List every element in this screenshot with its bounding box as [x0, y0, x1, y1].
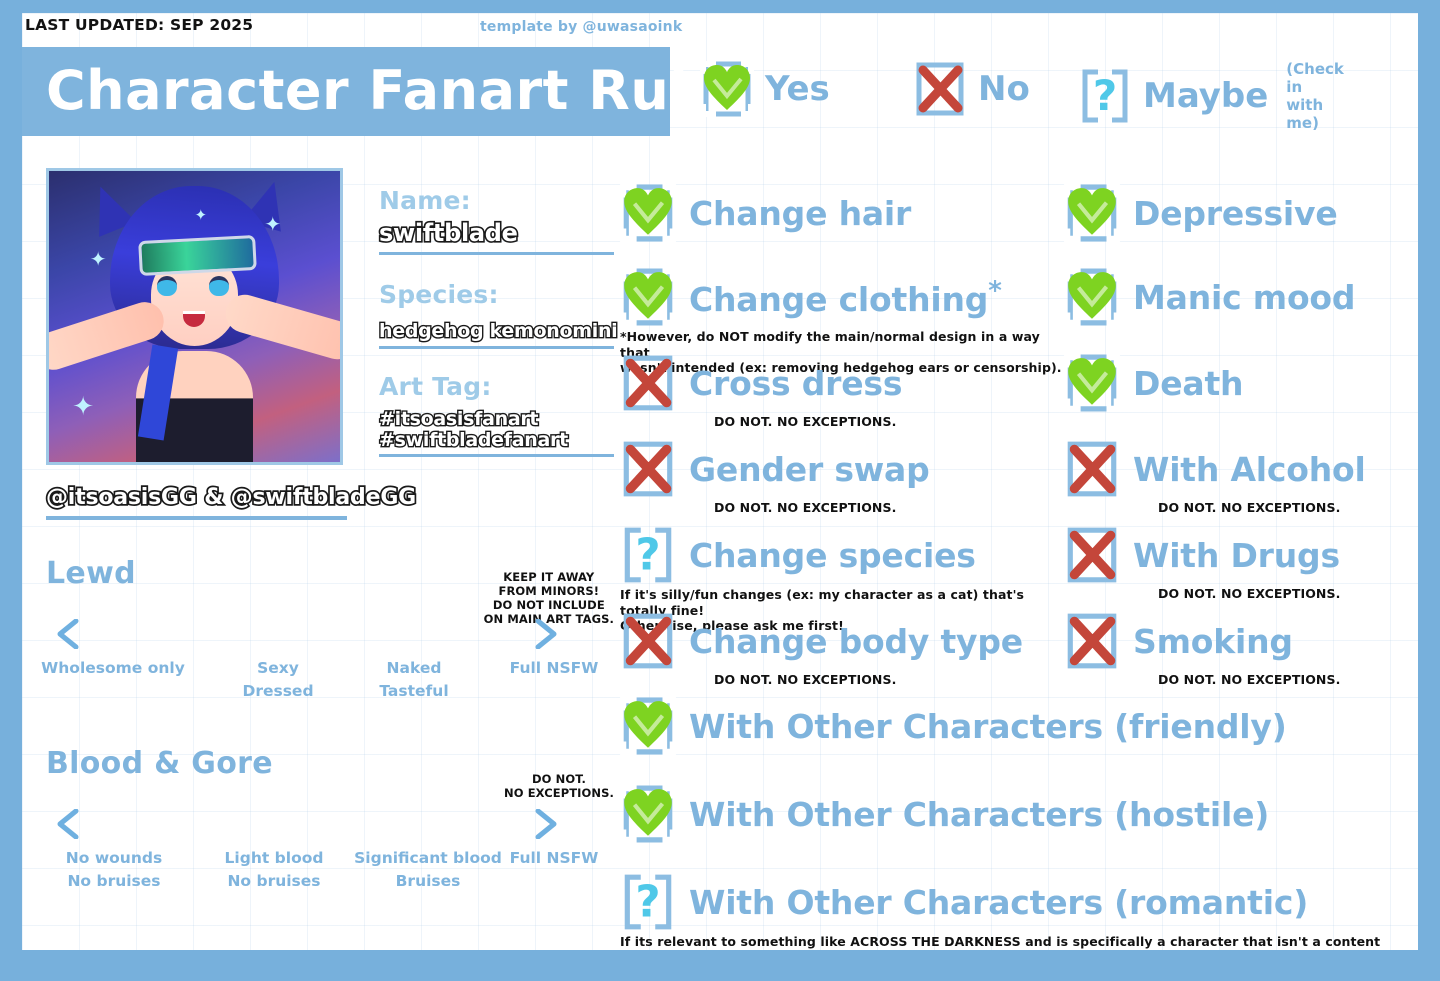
legend-label-yes: Yes: [765, 69, 830, 109]
rule-with-alcohol: With Alcohol DO NOT. NO EXCEPTIONS.: [1064, 439, 1366, 516]
field-underline-name: [379, 252, 614, 255]
slider-ticks-lewd: Wholesome only Sexy Dressed Naked Tastef…: [46, 653, 614, 705]
field-label-name: Name:: [379, 186, 619, 215]
field-species: Species: hedgehog kemonomini: [379, 280, 619, 350]
yes-heart-icon: [620, 696, 676, 756]
rule-label: With Drugs: [1133, 536, 1340, 575]
rule-label: Change species: [689, 536, 976, 575]
rule-label: With Other Characters (hostile): [689, 795, 1269, 834]
no-cross-icon: [620, 611, 676, 671]
rule-note: DO NOT. NO EXCEPTIONS.: [1064, 586, 1340, 602]
no-cross-icon: [620, 439, 676, 499]
legend-label-no: No: [978, 69, 1030, 109]
yes-heart-icon: [1064, 267, 1120, 327]
character-portrait-image: ✦ ✦ ✦ ✦: [46, 168, 343, 465]
slider-tick-lewd-0: Wholesome only: [28, 657, 198, 680]
yes-heart-icon: [1064, 353, 1120, 413]
yes-heart-icon: [1064, 183, 1120, 243]
slider-ticks-blood-gore: No wounds No bruises Light blood No brui…: [46, 843, 614, 895]
no-cross-icon: [1064, 439, 1120, 499]
title-banner: Character Fanart Rules: [22, 47, 670, 136]
rule-note: DO NOT. NO EXCEPTIONS.: [1064, 500, 1366, 516]
rule-smoking: Smoking DO NOT. NO EXCEPTIONS.: [1064, 611, 1340, 688]
rule-note: DO NOT. NO EXCEPTIONS.: [620, 500, 930, 516]
slider-lewd: Lewd KEEP IT AWAY FROM MINORS! DO NOT IN…: [46, 556, 618, 705]
legend-item-yes: Yes: [700, 60, 830, 118]
svg-text:?: ?: [1093, 71, 1117, 120]
slider-tick-gore-1: Light blood No bruises: [194, 847, 354, 894]
field-label-species: Species:: [379, 280, 619, 309]
svg-text:?: ?: [635, 530, 660, 580]
rules-card: LAST UPDATED: SEP 2025 template by @uwas…: [22, 13, 1418, 950]
rule-note: DO NOT. NO EXCEPTIONS.: [620, 414, 902, 430]
fanart-rules-page: LAST UPDATED: SEP 2025 template by @uwas…: [0, 0, 1440, 981]
maybe-question-icon: ?: [620, 525, 676, 585]
rule-depressive: Depressive: [1064, 183, 1338, 243]
legend-item-maybe: ? Maybe (Check in with me): [1078, 60, 1344, 132]
rule-label: With Other Characters (friendly): [689, 707, 1287, 746]
sparkle-icon: ✦: [72, 392, 94, 422]
field-underline-species: [379, 346, 614, 349]
rule-label: Smoking: [1133, 622, 1293, 661]
sparkle-icon: ✦: [90, 247, 107, 271]
character-arm-right: [221, 290, 343, 363]
rule-manic-mood: Manic mood: [1064, 267, 1355, 327]
rule-gender-swap: Gender swap DO NOT. NO EXCEPTIONS.: [620, 439, 930, 516]
rule-label: Change hair: [689, 194, 911, 233]
yes-heart-icon: [620, 267, 676, 327]
svg-text:?: ?: [635, 877, 660, 927]
yes-heart-icon: [700, 60, 754, 118]
no-cross-icon: [620, 353, 676, 413]
social-handle: @itsoasisGG & @swiftbladeGG: [46, 485, 347, 510]
rule-label: Depressive: [1133, 194, 1338, 233]
field-underline-art-tag: [379, 454, 614, 457]
slider-note-lewd: KEEP IT AWAY FROM MINORS! DO NOT INCLUDE…: [484, 570, 614, 626]
yes-heart-icon: [620, 183, 676, 243]
slider-bar-lewd[interactable]: [46, 619, 618, 653]
rule-label: Death: [1133, 364, 1243, 403]
legend-item-no: No: [913, 60, 1030, 118]
sparkle-icon: ✦: [264, 212, 281, 236]
slider-bar-blood-gore[interactable]: [46, 809, 618, 843]
rule-other-characters-hostile: With Other Characters (hostile): [620, 784, 1269, 844]
template-credit-label: template by @uwasaoink: [480, 19, 682, 35]
slider-tick-gore-3: Full NSFW: [474, 847, 634, 870]
last-updated-label: LAST UPDATED: SEP 2025: [25, 16, 253, 34]
header-bar: LAST UPDATED: SEP 2025 template by @uwas…: [22, 13, 1418, 46]
asterisk-icon: *: [988, 276, 1001, 306]
slider-tick-gore-0: No wounds No bruises: [44, 847, 184, 894]
rule-death: Death: [1064, 353, 1243, 413]
rule-cross-dress: Cross dress DO NOT. NO EXCEPTIONS.: [620, 353, 902, 430]
rule-other-characters-romantic: ? With Other Characters (romantic) If it…: [620, 872, 1400, 950]
field-label-art-tag: Art Tag:: [379, 372, 619, 401]
slider-blood-gore: Blood & Gore DO NOT. NO EXCEPTIONS.: [46, 746, 618, 895]
rule-change-body-type: Change body type DO NOT. NO EXCEPTIONS.: [620, 611, 1023, 688]
sparkle-icon: ✦: [195, 206, 208, 224]
rule-label: With Other Characters (romantic): [689, 883, 1308, 922]
field-value-species[interactable]: hedgehog kemonomini: [379, 321, 619, 342]
sunglasses-icon: [138, 235, 256, 276]
profile-fields: Name: swiftblade Species: hedgehog kemon…: [379, 186, 619, 457]
field-art-tag: Art Tag: #itsoasisfanart #swiftbladefana…: [379, 372, 619, 457]
rule-with-drugs: With Drugs DO NOT. NO EXCEPTIONS.: [1064, 525, 1340, 602]
no-cross-icon: [1064, 611, 1120, 671]
rule-note: DO NOT. NO EXCEPTIONS.: [1064, 672, 1340, 688]
slider-tick-lewd-3: Full NSFW: [474, 657, 634, 680]
legend-label-maybe: Maybe: [1143, 76, 1268, 116]
rule-note: DO NOT. NO EXCEPTIONS.: [620, 672, 1023, 688]
handle-underline: [46, 516, 347, 520]
yes-heart-icon: [620, 784, 676, 844]
character-eye-right: [209, 276, 229, 296]
maybe-question-icon: ?: [1078, 67, 1132, 125]
rule-other-characters-friendly: With Other Characters (friendly): [620, 696, 1287, 756]
slider-note-blood-gore: DO NOT. NO EXCEPTIONS.: [504, 772, 614, 800]
no-cross-icon: [913, 60, 967, 118]
rule-label: Change clothing*: [689, 276, 1002, 319]
slider-tick-lewd-2: Naked Tasteful: [334, 657, 494, 704]
rule-label: Manic mood: [1133, 278, 1355, 317]
character-portrait-wrap: ✦ ✦ ✦ ✦: [46, 168, 347, 465]
rule-label: Gender swap: [689, 450, 930, 489]
field-name: Name: swiftblade: [379, 186, 619, 255]
field-value-art-tag[interactable]: #itsoasisfanart #swiftbladefanart: [379, 409, 619, 450]
legend-sub-maybe: (Check in with me): [1286, 60, 1344, 132]
rule-label: With Alcohol: [1133, 450, 1366, 489]
maybe-question-icon: ?: [620, 872, 676, 932]
no-cross-icon: [1064, 525, 1120, 585]
rule-label: Change body type: [689, 622, 1023, 661]
rule-change-hair: Change hair: [620, 183, 911, 243]
character-eye-left: [157, 276, 177, 296]
page-title: Character Fanart Rules: [46, 46, 758, 135]
field-value-name[interactable]: swiftblade: [379, 221, 619, 247]
rule-note: If its relevant to something like ACROSS…: [620, 934, 1400, 950]
rule-label: Cross dress: [689, 364, 902, 403]
